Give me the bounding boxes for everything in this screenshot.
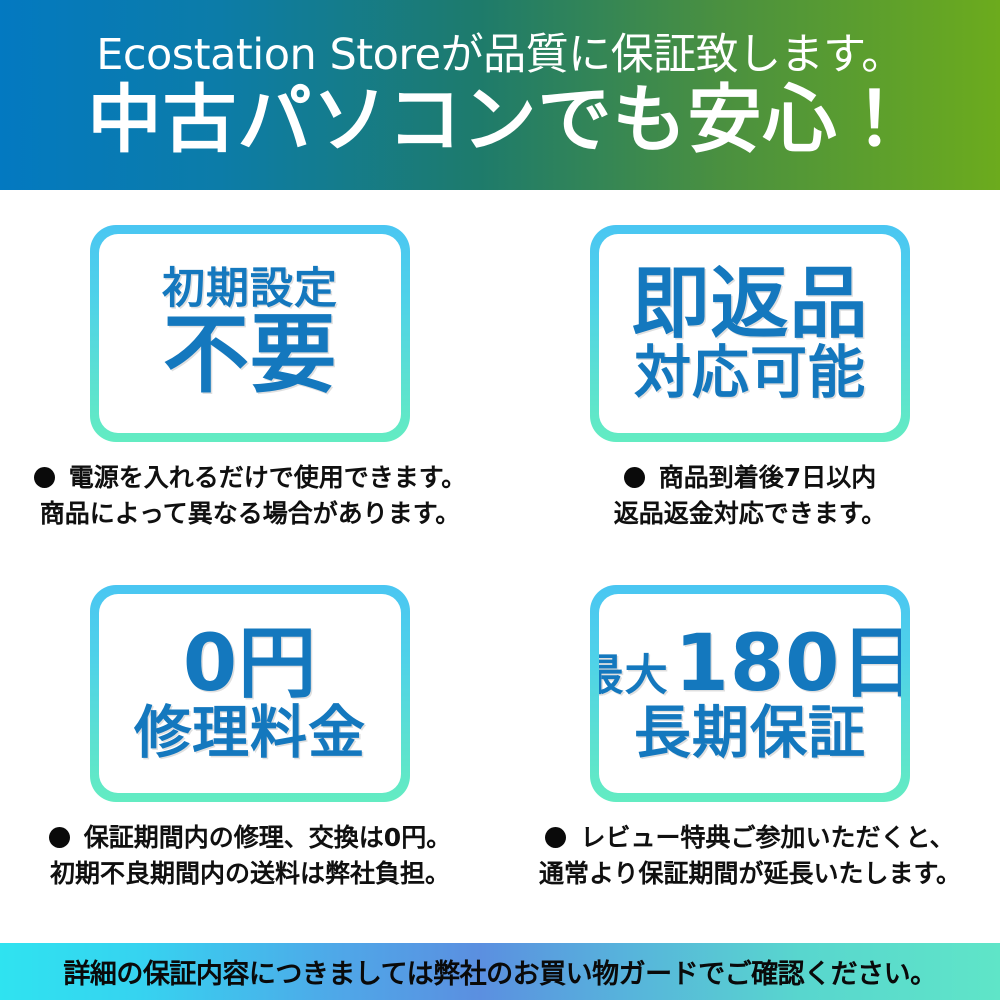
feature-badge: 初期設定 不要 [90,225,410,442]
feature-caption-line-1: 電源を入れるだけで使用できます。 [15,460,485,496]
feature-badge-prefix: 最大 [599,655,669,699]
feature-caption-line-2: 初期不良期間内の送料は弊社負担。 [15,856,485,892]
feature-card-long-warranty: 最大 180日 長期保証 レビュー特典ご参加いただくと、 通常より保証期間が延長… [500,550,1000,910]
feature-badge: 即返品 対応可能 [590,225,910,442]
feature-badge-line-2: 長期保証 [634,704,866,762]
feature-badge-line-2: 修理料金 [134,704,366,762]
feature-caption-line-1: 保証期間内の修理、交換は0円。 [15,820,485,856]
feature-caption: 保証期間内の修理、交換は0円。 初期不良期間内の送料は弊社負担。 [15,820,485,893]
feature-caption-line-1: 商品到着後7日以内 [515,460,985,496]
warranty-banner: Ecostation Storeが品質に保証致します。 中古パソコンでも安心！ … [0,0,1000,1000]
feature-caption-line-2: 通常より保証期間が延長いたします。 [515,856,985,892]
filled-circle-bullet-icon [34,467,55,488]
feature-caption-line-2: 返品返金対応できます。 [515,496,985,532]
feature-badge-line-1: 0円 [183,625,317,705]
header-headline-primary: Ecostation Storeが品質に保証致します。 [96,34,904,77]
feature-badge: 0円 修理料金 [90,585,410,802]
feature-grid: 初期設定 不要 電源を入れるだけで使用できます。 商品によって異なる場合がありま… [0,190,1000,935]
feature-badge-line-1: 最大 180日 [599,625,901,705]
feature-caption-line-1: レビュー特典ご参加いただくと、 [515,820,985,856]
feature-caption: レビュー特典ご参加いただくと、 通常より保証期間が延長いたします。 [515,820,985,893]
feature-badge-line-2: 不要 [163,312,337,400]
banner-footer: 詳細の保証内容につきましては弊社のお買い物ガードでご確認ください。 [0,943,1000,1000]
feature-badge-duration: 180日 [675,625,901,705]
feature-caption: 商品到着後7日以内 返品返金対応できます。 [515,460,985,533]
feature-caption-text-1: レビュー特典ご参加いただくと、 [580,823,954,852]
filled-circle-bullet-icon [49,827,70,848]
feature-badge-inner: 0円 修理料金 [99,594,401,793]
feature-badge-inner: 初期設定 不要 [99,234,401,433]
feature-card-initial-setup: 初期設定 不要 電源を入れるだけで使用できます。 商品によって異なる場合がありま… [0,190,500,550]
feature-badge-line-1: 即返品 [631,265,868,345]
feature-badge-line-2: 対応可能 [634,344,866,402]
feature-card-instant-return: 即返品 対応可能 商品到着後7日以内 返品返金対応できます。 [500,190,1000,550]
filled-circle-bullet-icon [545,827,566,848]
feature-card-zero-yen-repair: 0円 修理料金 保証期間内の修理、交換は0円。 初期不良期間内の送料は弊社負担。 [0,550,500,910]
feature-caption: 電源を入れるだけで使用できます。 商品によって異なる場合があります。 [15,460,485,533]
filled-circle-bullet-icon [624,467,645,488]
feature-caption-line-2: 商品によって異なる場合があります。 [15,496,485,532]
feature-badge-inner: 最大 180日 長期保証 [599,594,901,793]
feature-badge-inner: 即返品 対応可能 [599,234,901,433]
banner-header: Ecostation Storeが品質に保証致します。 中古パソコンでも安心！ [0,0,1000,190]
feature-badge: 最大 180日 長期保証 [590,585,910,802]
footer-note: 詳細の保証内容につきましては弊社のお買い物ガードでご確認ください。 [63,952,936,991]
feature-caption-text-1: 電源を入れるだけで使用できます。 [69,463,467,492]
feature-caption-text-1: 保証期間内の修理、交換は0円。 [84,823,451,852]
feature-caption-text-1: 商品到着後7日以内 [659,463,876,492]
header-headline-secondary: 中古パソコンでも安心！ [88,83,913,157]
